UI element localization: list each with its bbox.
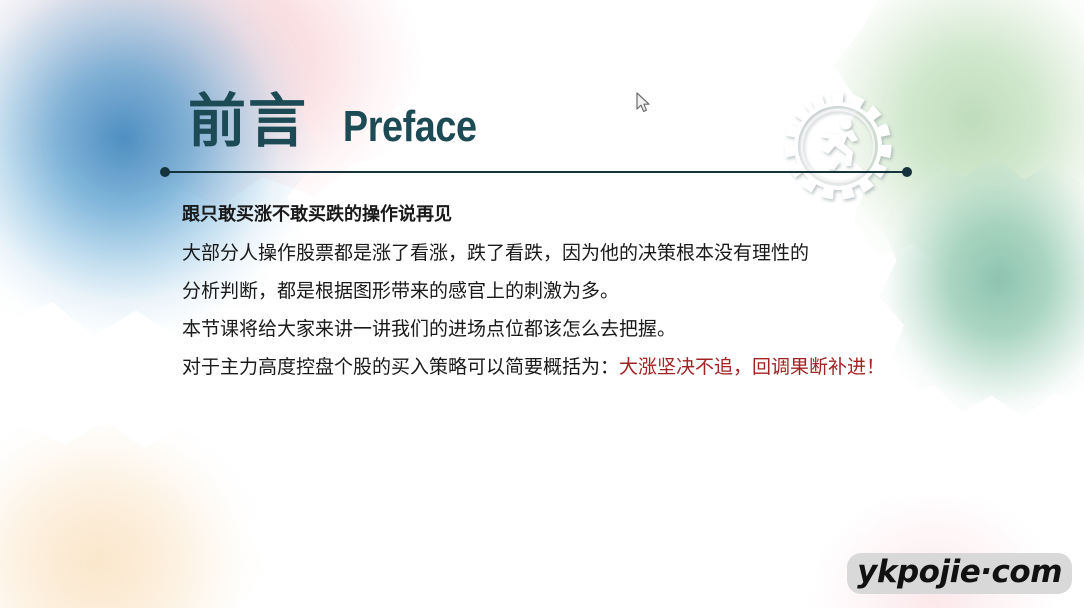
body-heading: 跟只敢买涨不敢买跌的操作说再见	[182, 196, 902, 234]
body-line-4: 对于主力高度控盘个股的买入策略可以简要概括为：大涨坚决不追，回调果断补进！	[182, 348, 892, 386]
divider-rule	[166, 171, 906, 173]
slide-canvas: 前言 Preface 跟只敢买涨不敢买跌的操作说再见 大部分人操作股票都是涨了看…	[0, 0, 1084, 608]
watermark: ykpojie·com	[847, 553, 1072, 594]
body-line-1: 大部分人操作股票都是涨了看涨，跌了看跌，因为他的决策根本没有理性的	[182, 234, 902, 272]
watermark-text: ykpojie·com	[857, 557, 1062, 588]
body-line-4-highlight: 大涨坚决不追，回调果断补进！	[619, 356, 885, 378]
body-line-2: 分析判断，都是根据图形带来的感官上的刺激为多。	[182, 272, 902, 310]
body-line-3: 本节课将给大家来讲一讲我们的进场点位都该怎么去把握。	[182, 310, 902, 348]
runner-icon	[821, 119, 858, 171]
body-copy: 跟只敢买涨不敢买跌的操作说再见 大部分人操作股票都是涨了看涨，跌了看跌，因为他的…	[182, 196, 902, 386]
watercolor-splash-green-deep	[874, 150, 1084, 420]
mouse-pointer-icon	[636, 92, 652, 119]
gear-icon	[778, 88, 898, 208]
watercolor-splash-cream	[0, 418, 270, 608]
divider-dot-right	[902, 167, 912, 177]
body-line-4-prefix: 对于主力高度控盘个股的买入策略可以简要概括为：	[182, 356, 619, 378]
gear-runner-emblem	[778, 88, 898, 208]
title-divider	[160, 167, 912, 177]
page-title: 前言 Preface	[188, 92, 488, 150]
title-chinese: 前言	[188, 92, 308, 150]
title-english: Preface	[343, 105, 477, 149]
